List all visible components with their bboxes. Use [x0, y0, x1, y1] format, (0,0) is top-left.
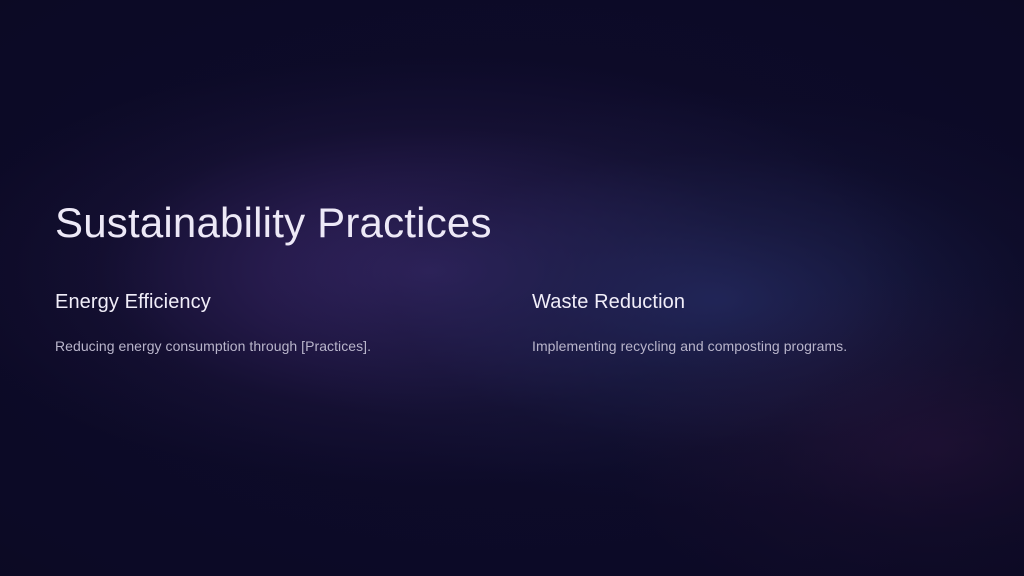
column-heading-waste-reduction: Waste Reduction [532, 290, 962, 315]
slide-content: Sustainability Practices Energy Efficien… [0, 0, 1024, 576]
column-waste-reduction: Waste Reduction Implementing recycling a… [532, 290, 962, 356]
column-energy-efficiency: Energy Efficiency Reducing energy consum… [55, 290, 485, 356]
column-heading-energy-efficiency: Energy Efficiency [55, 290, 485, 315]
slide-title: Sustainability Practices [55, 200, 492, 246]
column-body-waste-reduction: Implementing recycling and composting pr… [532, 336, 962, 356]
content-columns: Energy Efficiency Reducing energy consum… [55, 290, 969, 356]
column-body-energy-efficiency: Reducing energy consumption through [Pra… [55, 336, 485, 356]
presentation-slide: Sustainability Practices Energy Efficien… [0, 0, 1024, 576]
